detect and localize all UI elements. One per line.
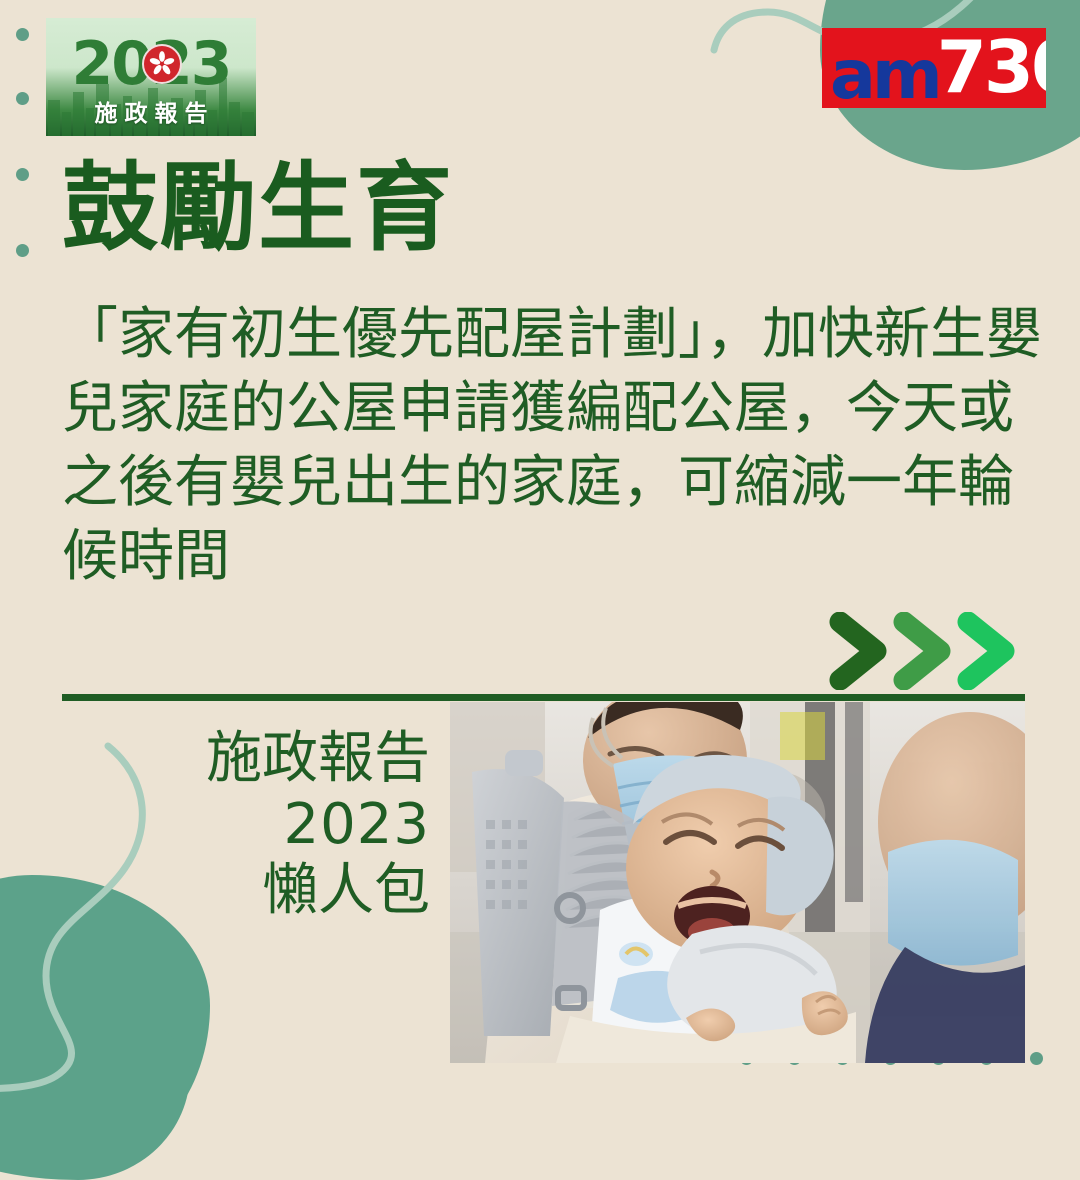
blob-bottom-left-secondary — [0, 1000, 190, 1180]
chevron-arrow-group — [824, 612, 1034, 690]
logo-subtitle: 施政報告 — [46, 94, 256, 128]
policy-address-logo: 2023 施政報告 — [46, 18, 256, 136]
body-paragraph: 「家有初生優先配屋計劃」，加快新生嬰兒家庭的公屋申請獲編配公屋，今天或之後有嬰兒… — [62, 298, 1042, 594]
decor-dot — [16, 92, 29, 105]
am730-logo-prefix: am — [830, 32, 939, 104]
decor-dot — [16, 168, 29, 181]
decor-dot — [16, 28, 29, 41]
hong-kong-bauhinia-emblem — [142, 44, 182, 84]
footer-line-1: 施政報告 — [120, 726, 430, 792]
chevron-right-mid-icon — [888, 612, 962, 690]
am730-logo: am 730 — [822, 28, 1046, 108]
decor-dot — [16, 244, 29, 257]
page-title: 鼓勵生育 — [62, 158, 454, 259]
footer-caption: 施政報告 2023 懶人包 — [120, 726, 430, 924]
poster-canvas: 2023 施政報告 am 730 鼓勵生育 「家有初生優先配屋計劃」，加快新生嬰… — [0, 0, 1080, 1080]
footer-line-2: 2023 — [120, 792, 430, 858]
photo-illustration — [450, 702, 1025, 1063]
chevron-right-dark-icon — [824, 612, 898, 690]
decor-dot — [1030, 1052, 1043, 1065]
bauhinia-flower-icon — [147, 49, 177, 79]
chevron-right-bright-icon — [952, 612, 1026, 690]
footer-line-3: 懶人包 — [120, 858, 430, 924]
photo-woman-holding-baby — [450, 702, 1025, 1063]
horizontal-divider — [62, 694, 1025, 701]
am730-logo-number: 730 — [937, 38, 1046, 97]
